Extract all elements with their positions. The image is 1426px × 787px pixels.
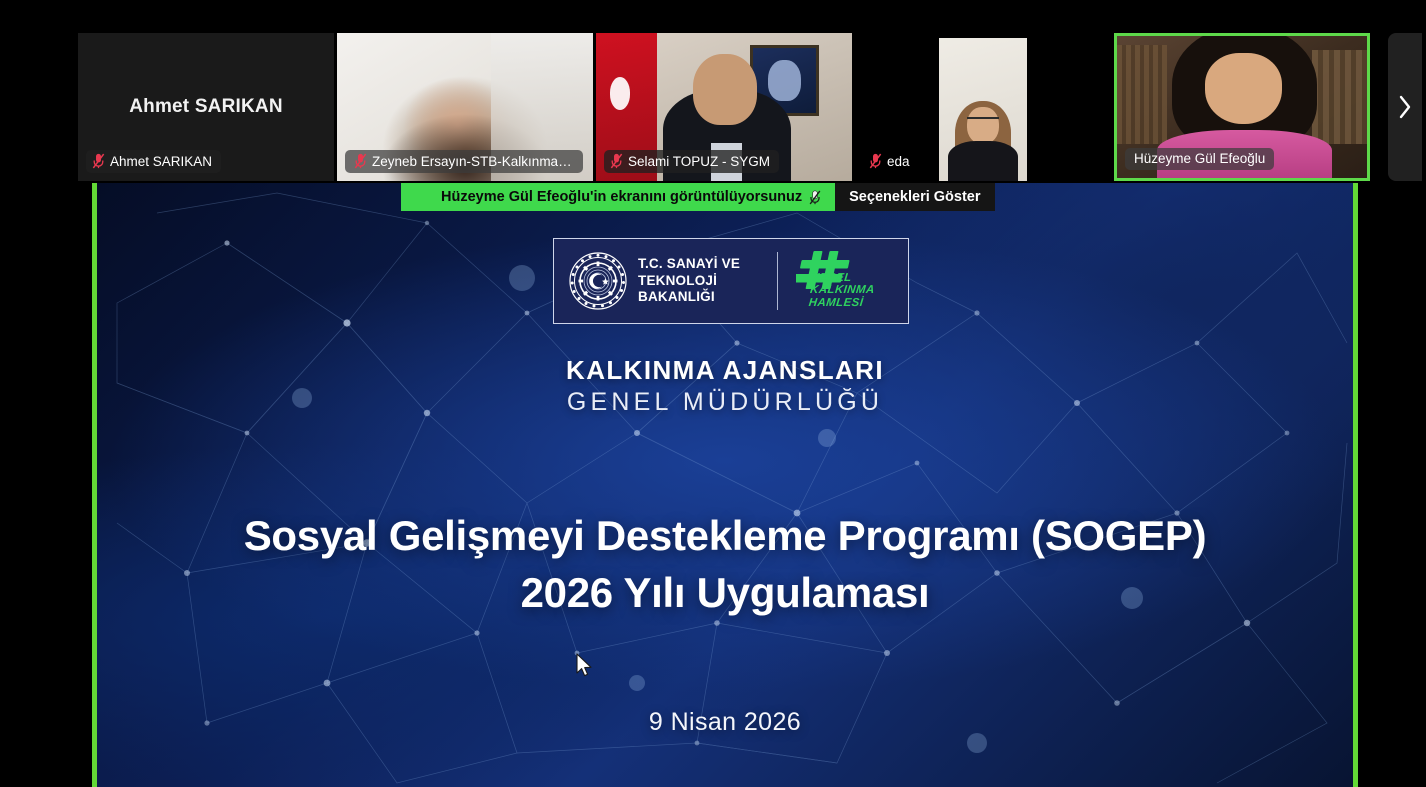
participant-name-pill: eda bbox=[863, 150, 919, 173]
mic-muted-icon bbox=[869, 153, 882, 169]
participant-tile-selami-topuz[interactable]: Selami TOPUZ - SYGM bbox=[596, 33, 852, 181]
mic-muted-icon bbox=[809, 190, 821, 205]
campaign-logo: YEREL KALKINMA HAMLESİ bbox=[794, 250, 890, 312]
presentation-slide: T.C. SANAYİ VE TEKNOLOJİ BAKANLIĞI YEREL… bbox=[97, 183, 1353, 787]
participant-name-pill: Hüzeyme Gül Efeoğlu bbox=[1125, 148, 1274, 170]
screen-share-banner: Hüzeyme Gül Efeoğlu'in ekranını görüntül… bbox=[401, 183, 995, 211]
mouse-pointer-icon bbox=[575, 653, 593, 679]
mic-muted-icon bbox=[92, 153, 105, 169]
participant-tile-ahmet-sarikan[interactable]: Ahmet SARIKAN Ahmet SARIKAN bbox=[78, 33, 334, 181]
show-options-button[interactable]: Seçenekleri Göster bbox=[835, 183, 994, 211]
participant-name-label: Ahmet SARIKAN bbox=[110, 154, 212, 169]
participant-name-pill: Ahmet SARIKAN bbox=[86, 150, 221, 173]
participant-name-label: Hüzeyme Gül Efeoğlu bbox=[1134, 151, 1265, 166]
mic-muted-icon bbox=[610, 153, 623, 169]
participant-name-label: eda bbox=[887, 154, 910, 169]
participant-name-pill: Selami TOPUZ - SYGM bbox=[604, 150, 779, 173]
slide-date: 9 Nisan 2026 bbox=[97, 708, 1353, 737]
participant-name-label: Zeyneb Ersayın-STB-Kalkınma A... bbox=[372, 154, 574, 169]
chevron-right-icon bbox=[1397, 94, 1413, 120]
campaign-text-label: YEREL KALKINMA HAMLESİ bbox=[808, 272, 896, 309]
ministry-logo-block: T.C. SANAYİ VE TEKNOLOJİ BAKANLIĞI YEREL… bbox=[553, 238, 909, 324]
participant-filmstrip: Ahmet SARIKAN Ahmet SARIKAN bbox=[0, 0, 1426, 183]
show-options-label: Seçenekleri Göster bbox=[849, 189, 980, 205]
ministry-emblem-icon bbox=[568, 251, 628, 311]
participant-tile-huzeyme-gul-efeoglu[interactable]: Hüzeyme Gül Efeoğlu bbox=[1114, 33, 1370, 181]
org-line-1: KALKINMA AJANSLARI bbox=[97, 355, 1353, 386]
screen-share-message-label: Hüzeyme Gül Efeoğlu'in ekranını görüntül… bbox=[441, 189, 802, 205]
screen-share-border-right bbox=[1353, 183, 1358, 787]
shared-screen-area: T.C. SANAYİ VE TEKNOLOJİ BAKANLIĞI YEREL… bbox=[92, 183, 1358, 787]
mic-muted-icon bbox=[354, 153, 367, 169]
organization-heading: KALKINMA AJANSLARI GENEL MÜDÜRLÜĞÜ bbox=[97, 355, 1353, 417]
participant-tile-zeyneb-ersayin[interactable]: Zeyneb Ersayın-STB-Kalkınma A... bbox=[337, 33, 593, 181]
participant-name-pill: Zeyneb Ersayın-STB-Kalkınma A... bbox=[345, 150, 583, 173]
slide-title: Sosyal Gelişmeyi Destekleme Programı (SO… bbox=[97, 508, 1353, 621]
filmstrip-next-page-button[interactable] bbox=[1388, 33, 1422, 181]
title-line-2: 2026 Yılı Uygulaması bbox=[97, 565, 1353, 622]
zoom-meeting-window: Ahmet SARIKAN Ahmet SARIKAN bbox=[0, 0, 1426, 787]
screen-share-message: Hüzeyme Gül Efeoğlu'in ekranını görüntül… bbox=[401, 183, 835, 211]
participant-name-label: Selami TOPUZ - SYGM bbox=[628, 154, 770, 169]
org-line-2: GENEL MÜDÜRLÜĞÜ bbox=[97, 388, 1353, 417]
ministry-name-label: T.C. SANAYİ VE TEKNOLOJİ BAKANLIĞI bbox=[638, 256, 777, 307]
title-line-1: Sosyal Gelişmeyi Destekleme Programı (SO… bbox=[97, 508, 1353, 565]
participant-tile-eda[interactable]: eda bbox=[855, 33, 1111, 181]
participant-display-name: Ahmet SARIKAN bbox=[78, 96, 334, 118]
logo-divider bbox=[777, 252, 778, 310]
